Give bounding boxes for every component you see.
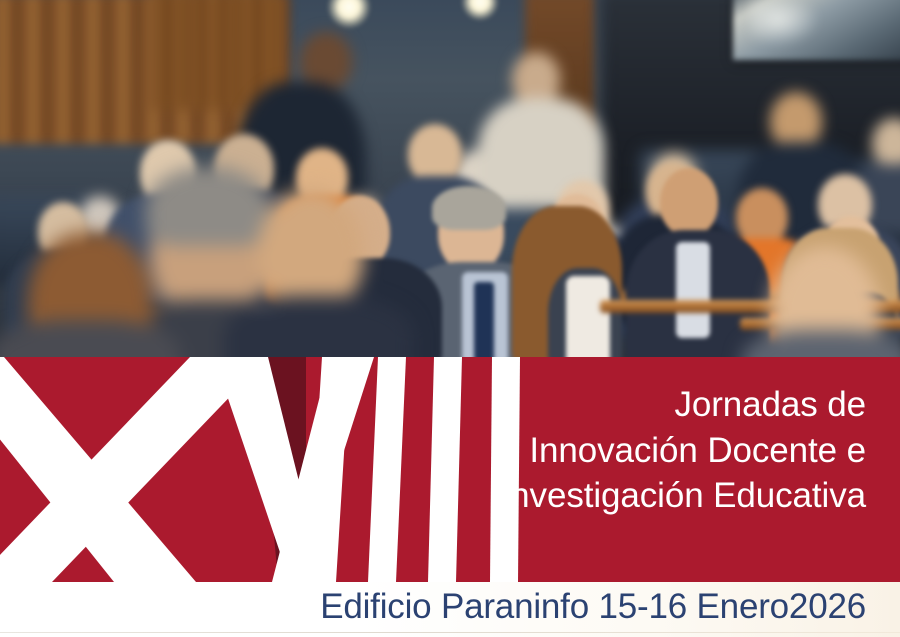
footer-divider	[0, 632, 900, 633]
venue-and-dates: Edificio Paraninfo 15-16 Enero2026	[320, 587, 866, 627]
headline-line-1: Jornadas de	[366, 382, 866, 428]
auditorium-audience-photo	[0, 0, 900, 360]
audience-foreground-row	[0, 0, 900, 360]
poster-headline: Jornadas de Innovación Docente e Investi…	[366, 382, 866, 519]
headline-line-2: Innovación Docente e	[366, 428, 866, 474]
headline-line-3: Investigación Educativa	[366, 473, 866, 519]
poster-footer: Edificio Paraninfo 15-16 Enero2026	[0, 582, 900, 637]
conference-poster: XVIII Jornadas de Innovación Docente e I…	[0, 0, 900, 637]
band-dark-accent	[258, 357, 306, 582]
